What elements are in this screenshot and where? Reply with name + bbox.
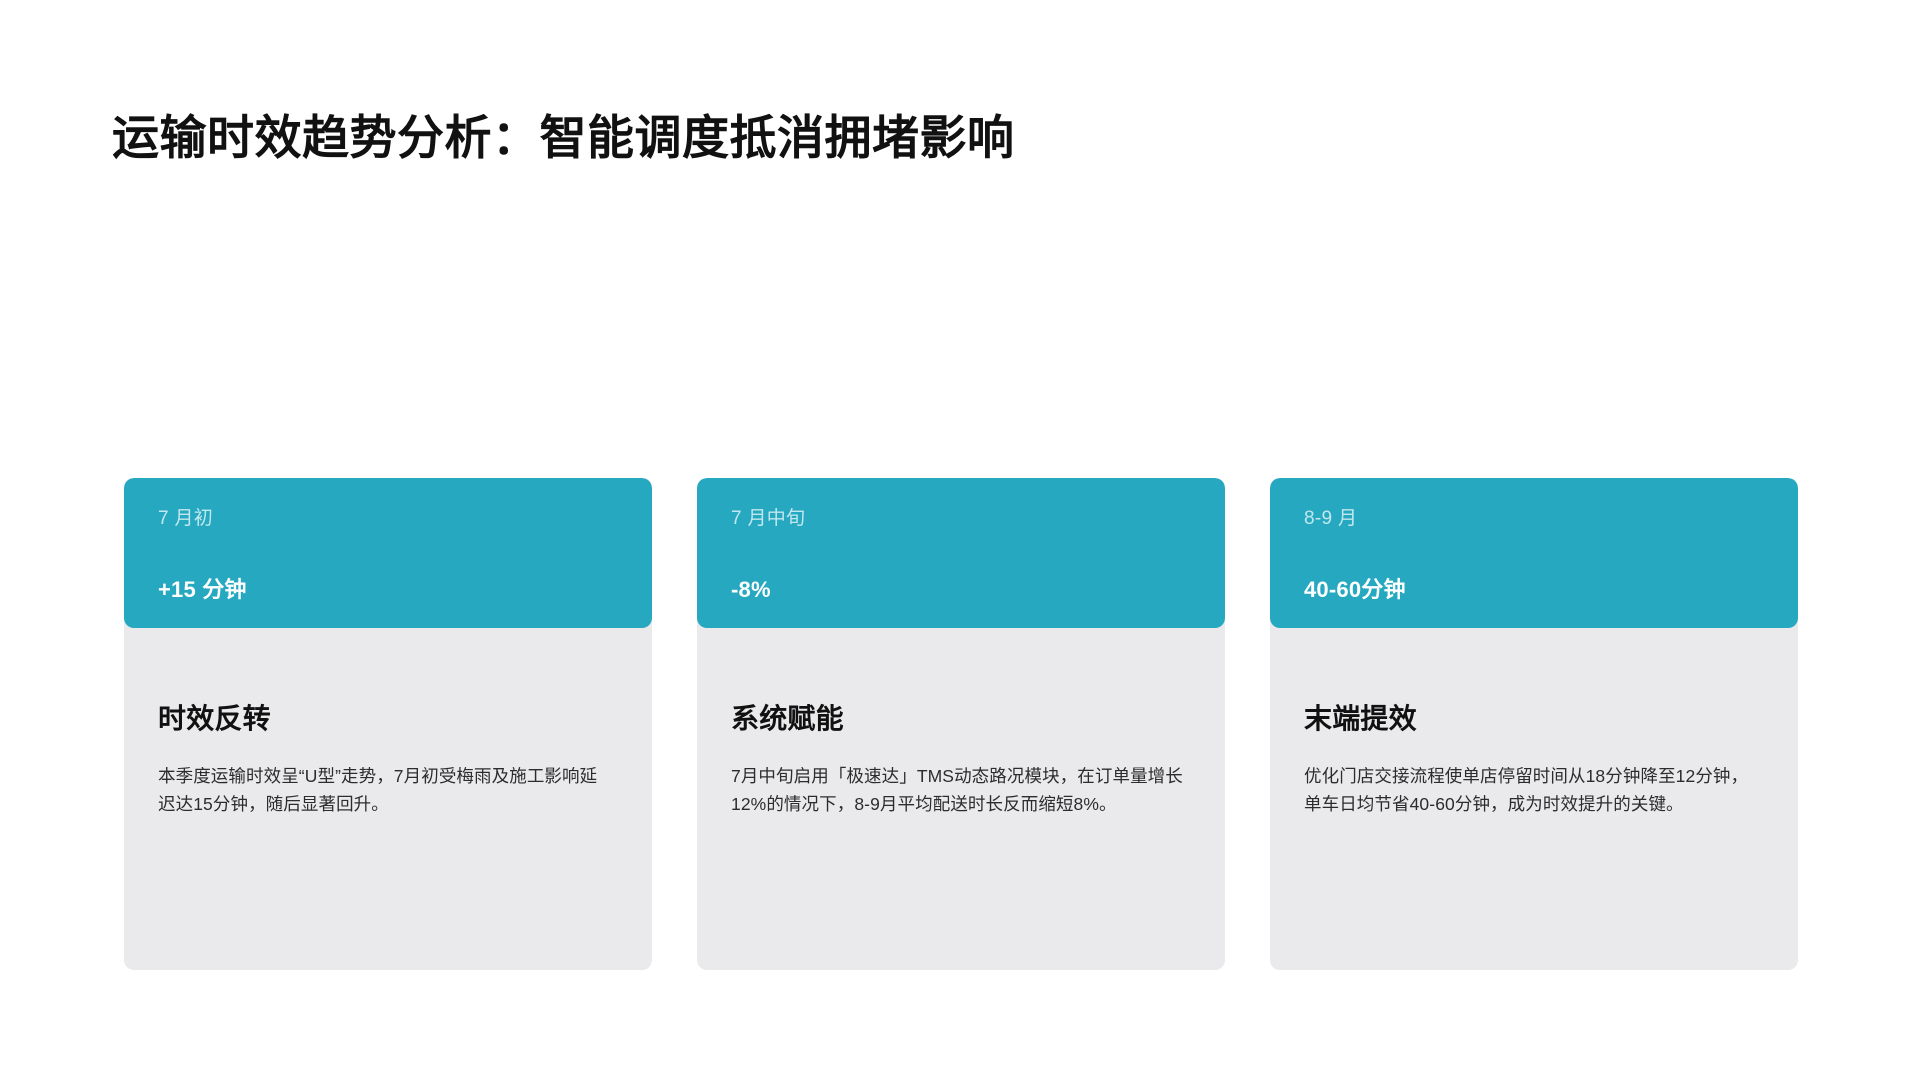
insight-card-2[interactable]: 7 月中旬 -8% 系统赋能 7月中旬启用「极速达」TMS动态路况模块，在订单量… bbox=[697, 478, 1225, 970]
card-title-1: 时效反转 bbox=[158, 702, 612, 736]
insight-card-3[interactable]: 8-9 月 40-60分钟 末端提效 优化门店交接流程使单店停留时间从18分钟降… bbox=[1270, 478, 1798, 970]
card-body-2: 系统赋能 7月中旬启用「极速达」TMS动态路况模块，在订单量增长12%的情况下，… bbox=[697, 618, 1225, 970]
card-period-label-2: 7 月中旬 bbox=[731, 508, 1191, 531]
card-title-3: 末端提效 bbox=[1304, 702, 1758, 736]
card-period-label-3: 8-9 月 bbox=[1304, 508, 1764, 531]
card-metric-value-1: +15 分钟 bbox=[158, 577, 618, 603]
card-description-1: 本季度运输时效呈“U型”走势，7月初受梅雨及施工影响延迟达15分钟，随后显著回升… bbox=[158, 762, 612, 819]
card-metric-value-3: 40-60分钟 bbox=[1304, 577, 1764, 603]
card-period-label-1: 7 月初 bbox=[158, 508, 618, 531]
insight-card-1[interactable]: 7 月初 +15 分钟 时效反转 本季度运输时效呈“U型”走势，7月初受梅雨及施… bbox=[124, 478, 652, 970]
insight-card-row: 7 月初 +15 分钟 时效反转 本季度运输时效呈“U型”走势，7月初受梅雨及施… bbox=[124, 478, 1798, 970]
card-header-2: 7 月中旬 -8% bbox=[697, 478, 1225, 628]
slide-canvas: 运输时效趋势分析：智能调度抵消拥堵影响 7 月初 +15 分钟 时效反转 本季度… bbox=[0, 0, 1920, 1080]
card-title-2: 系统赋能 bbox=[731, 702, 1185, 736]
card-header-3: 8-9 月 40-60分钟 bbox=[1270, 478, 1798, 628]
card-metric-value-2: -8% bbox=[731, 577, 1191, 603]
card-description-2: 7月中旬启用「极速达」TMS动态路况模块，在订单量增长12%的情况下，8-9月平… bbox=[731, 762, 1185, 819]
card-body-3: 末端提效 优化门店交接流程使单店停留时间从18分钟降至12分钟，单车日均节省40… bbox=[1270, 618, 1798, 970]
page-title: 运输时效趋势分析：智能调度抵消拥堵影响 bbox=[112, 109, 1015, 168]
card-body-1: 时效反转 本季度运输时效呈“U型”走势，7月初受梅雨及施工影响延迟达15分钟，随… bbox=[124, 618, 652, 970]
card-description-3: 优化门店交接流程使单店停留时间从18分钟降至12分钟，单车日均节省40-60分钟… bbox=[1304, 762, 1758, 819]
card-header-1: 7 月初 +15 分钟 bbox=[124, 478, 652, 628]
